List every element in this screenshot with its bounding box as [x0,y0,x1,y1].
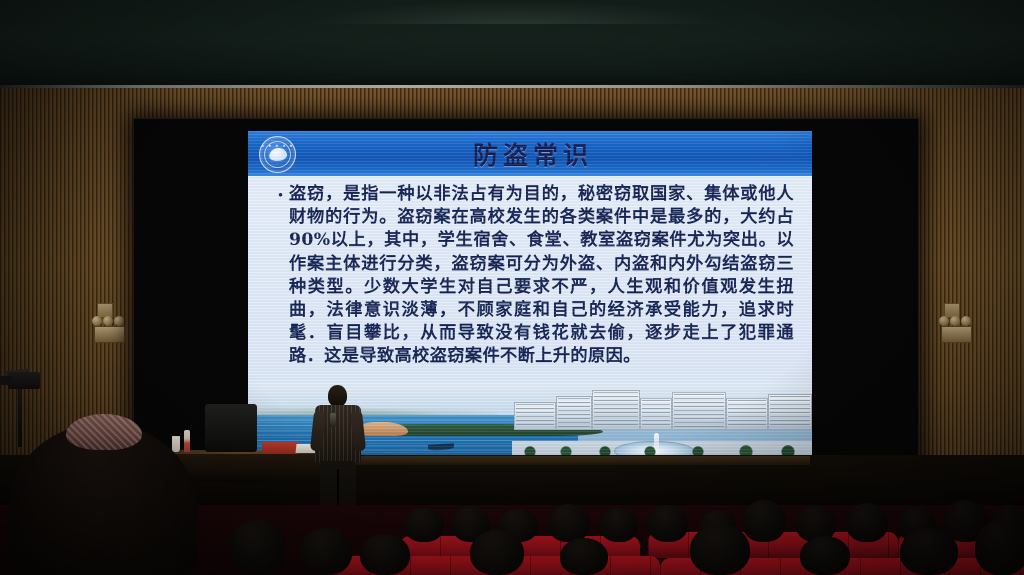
hair-bow [66,414,142,450]
audience-head [800,536,850,575]
audience-head [690,524,750,575]
audience-head [230,520,286,575]
audience-head [975,520,1024,575]
audience-member-with-hair-bow [8,388,198,575]
slide-title: 防盗常识 [248,136,812,172]
camera-body [8,372,40,389]
sconce-base [94,326,125,343]
audience-head [600,508,638,542]
presenter-head [328,385,347,407]
audience-head [404,508,444,542]
bullet-icon: • [272,183,289,369]
audience-head [846,503,888,542]
audience-head [648,505,688,542]
slide-paragraph: 盗窃，是指一种以非法占有为目的，秘密窃取国家、集体或他人财物的行为。盗窃案在高校… [289,183,794,369]
audience-head [548,504,590,542]
slide-title-bar: ★ ★ ★ ★ ★ 防盗常识 [248,131,812,176]
audience-head [742,500,786,542]
photo-trees [512,439,812,455]
wall-sconce-right [938,303,972,345]
audience-head [360,534,410,575]
camera-lens-icon [0,376,12,385]
red-box [262,442,298,454]
audience-head [470,530,524,575]
sconce-base [941,326,972,343]
auditorium-photo: ★ ★ ★ ★ ★ 防盗常识 • 盗窃，是指一种以非法占有为目的，秘密窃取国家、… [0,0,1024,575]
wall-sconce-left [91,303,125,345]
ceiling [0,0,1024,88]
ceiling-glow [300,0,730,24]
audience-head [300,528,352,575]
microphone-icon [330,413,336,427]
audience-head [560,538,608,575]
projector-equipment [205,404,257,452]
audience-head [900,528,958,575]
slide-body: • 盗窃，是指一种以非法占有为目的，秘密窃取国家、集体或他人财物的行为。盗窃案在… [272,183,794,369]
university-emblem-icon: ★ ★ ★ ★ ★ [259,136,296,173]
